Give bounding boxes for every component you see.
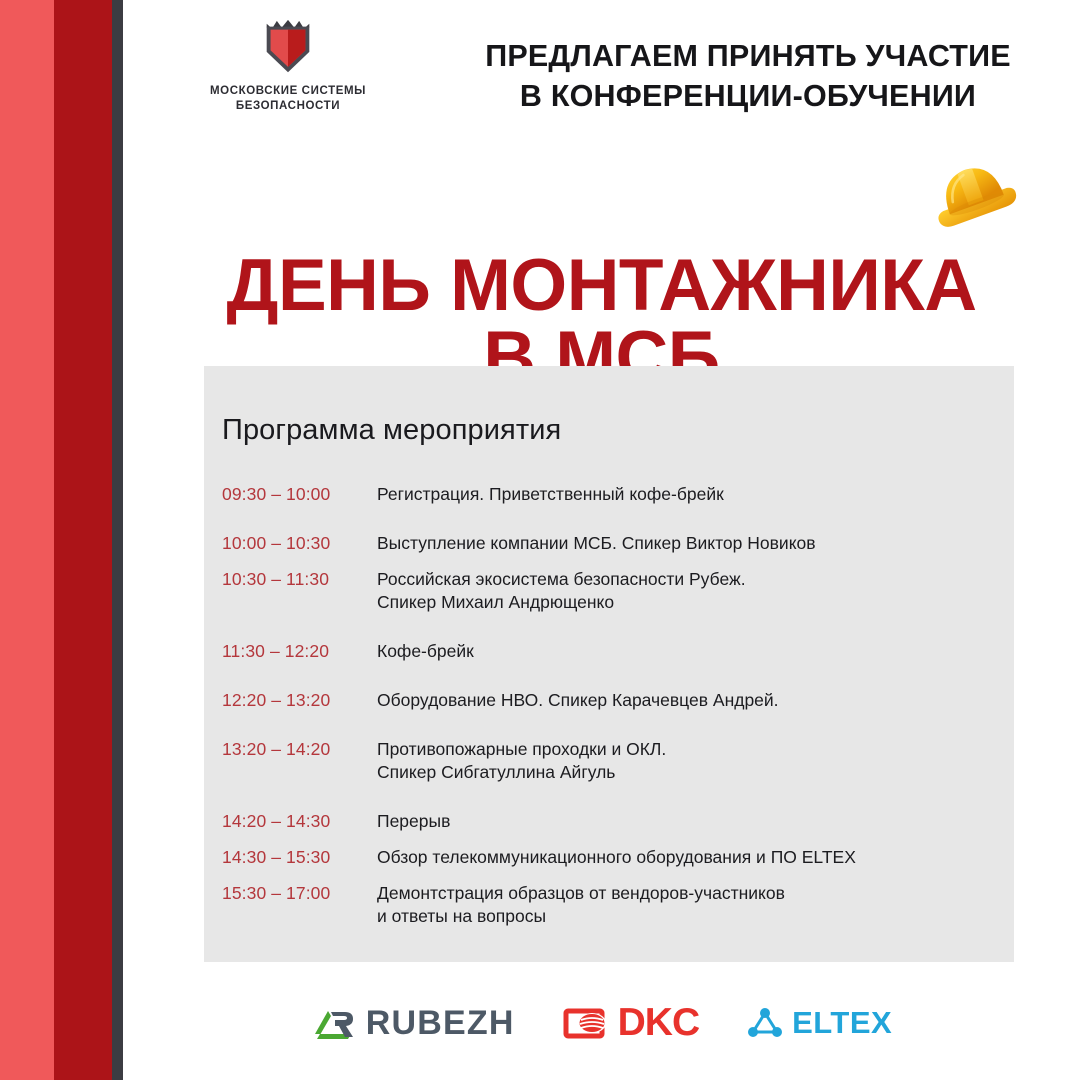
rubezh-wordmark: RUBEZH — [366, 1004, 515, 1043]
shield-crown-icon — [257, 16, 319, 78]
schedule-time: 14:20 – 14:30 — [222, 810, 377, 833]
schedule-row: 10:30 – 11:30 Российская экосистема безо… — [222, 568, 1000, 614]
eltex-wordmark: ELTEX — [792, 1005, 892, 1041]
poster-canvas: МОСКОВСКИЕ СИСТЕМЫ БЕЗОПАСНОСТИ ПРЕДЛАГА… — [0, 0, 1080, 1080]
schedule-time: 14:30 – 15:30 — [222, 846, 377, 869]
schedule-desc: Кофе-брейк — [377, 640, 1000, 663]
schedule-row: 09:30 – 10:00 Регистрация. Приветственны… — [222, 483, 1000, 506]
schedule-desc: Регистрация. Приветственный кофе-брейк — [377, 483, 1000, 506]
partner-logos: RUBEZH DKC ELTEX — [123, 990, 1080, 1056]
schedule-row: 12:20 – 13:20 Оборудование НВО. Спикер К… — [222, 689, 1000, 712]
schedule-desc: Демонтстрация образцов от вендоров-участ… — [377, 882, 1000, 928]
schedule-desc: Оборудование НВО. Спикер Карачевцев Андр… — [377, 689, 1000, 712]
schedule-desc: Обзор телекоммуникационного оборудования… — [377, 846, 1000, 869]
schedule-row: 15:30 – 17:00 Демонтстрация образцов от … — [222, 882, 1000, 928]
schedule-list: 09:30 – 10:00 Регистрация. Приветственны… — [222, 483, 1000, 946]
schedule-desc: Выступление компании МСБ. Спикер Виктор … — [377, 532, 1000, 555]
schedule-time: 13:20 – 14:20 — [222, 738, 377, 761]
schedule-time: 12:20 – 13:20 — [222, 689, 377, 712]
schedule-row: 13:20 – 14:20 Противопожарные проходки и… — [222, 738, 1000, 784]
dkc-logo-icon — [563, 1004, 609, 1042]
program-panel: Программа мероприятия 09:30 – 10:00 Реги… — [204, 366, 1014, 962]
schedule-time: 10:30 – 11:30 — [222, 568, 377, 591]
stripe-coral — [0, 0, 54, 1080]
hard-hat-icon — [927, 156, 1023, 236]
brand-block: МОСКОВСКИЕ СИСТЕМЫ БЕЗОПАСНОСТИ — [198, 16, 378, 114]
schedule-time: 15:30 – 17:00 — [222, 882, 377, 905]
schedule-row: 10:00 – 10:30 Выступление компании МСБ. … — [222, 532, 1000, 555]
stripe-red — [54, 0, 112, 1080]
rubezh-logo-icon — [311, 1004, 357, 1042]
schedule-row: 14:20 – 14:30 Перерыв — [222, 810, 1000, 833]
program-heading: Программа мероприятия — [222, 414, 561, 447]
schedule-time: 11:30 – 12:20 — [222, 640, 377, 663]
stripe-dark — [112, 0, 123, 1080]
partner-eltex: ELTEX — [747, 1005, 892, 1041]
header-title: ПРЕДЛАГАЕМ ПРИНЯТЬ УЧАСТИЕ В КОНФЕРЕНЦИИ… — [443, 36, 1053, 116]
dkc-wordmark: DKC — [618, 1001, 700, 1045]
schedule-desc: Перерыв — [377, 810, 1000, 833]
eltex-logo-icon — [747, 1006, 783, 1040]
schedule-desc: Противопожарные проходки и ОКЛ. Спикер С… — [377, 738, 1000, 784]
schedule-time: 10:00 – 10:30 — [222, 532, 377, 555]
schedule-row: 11:30 – 12:20 Кофе-брейк — [222, 640, 1000, 663]
header: МОСКОВСКИЕ СИСТЕМЫ БЕЗОПАСНОСТИ ПРЕДЛАГА… — [123, 0, 1080, 150]
partner-rubezh: RUBEZH — [311, 1004, 515, 1043]
brand-name: МОСКОВСКИЕ СИСТЕМЫ БЕЗОПАСНОСТИ — [198, 84, 378, 114]
schedule-time: 09:30 – 10:00 — [222, 483, 377, 506]
schedule-desc: Российская экосистема безопасности Рубеж… — [377, 568, 1000, 614]
schedule-row: 14:30 – 15:30 Обзор телекоммуникационног… — [222, 846, 1000, 869]
partner-dkc: DKC — [563, 1001, 700, 1045]
